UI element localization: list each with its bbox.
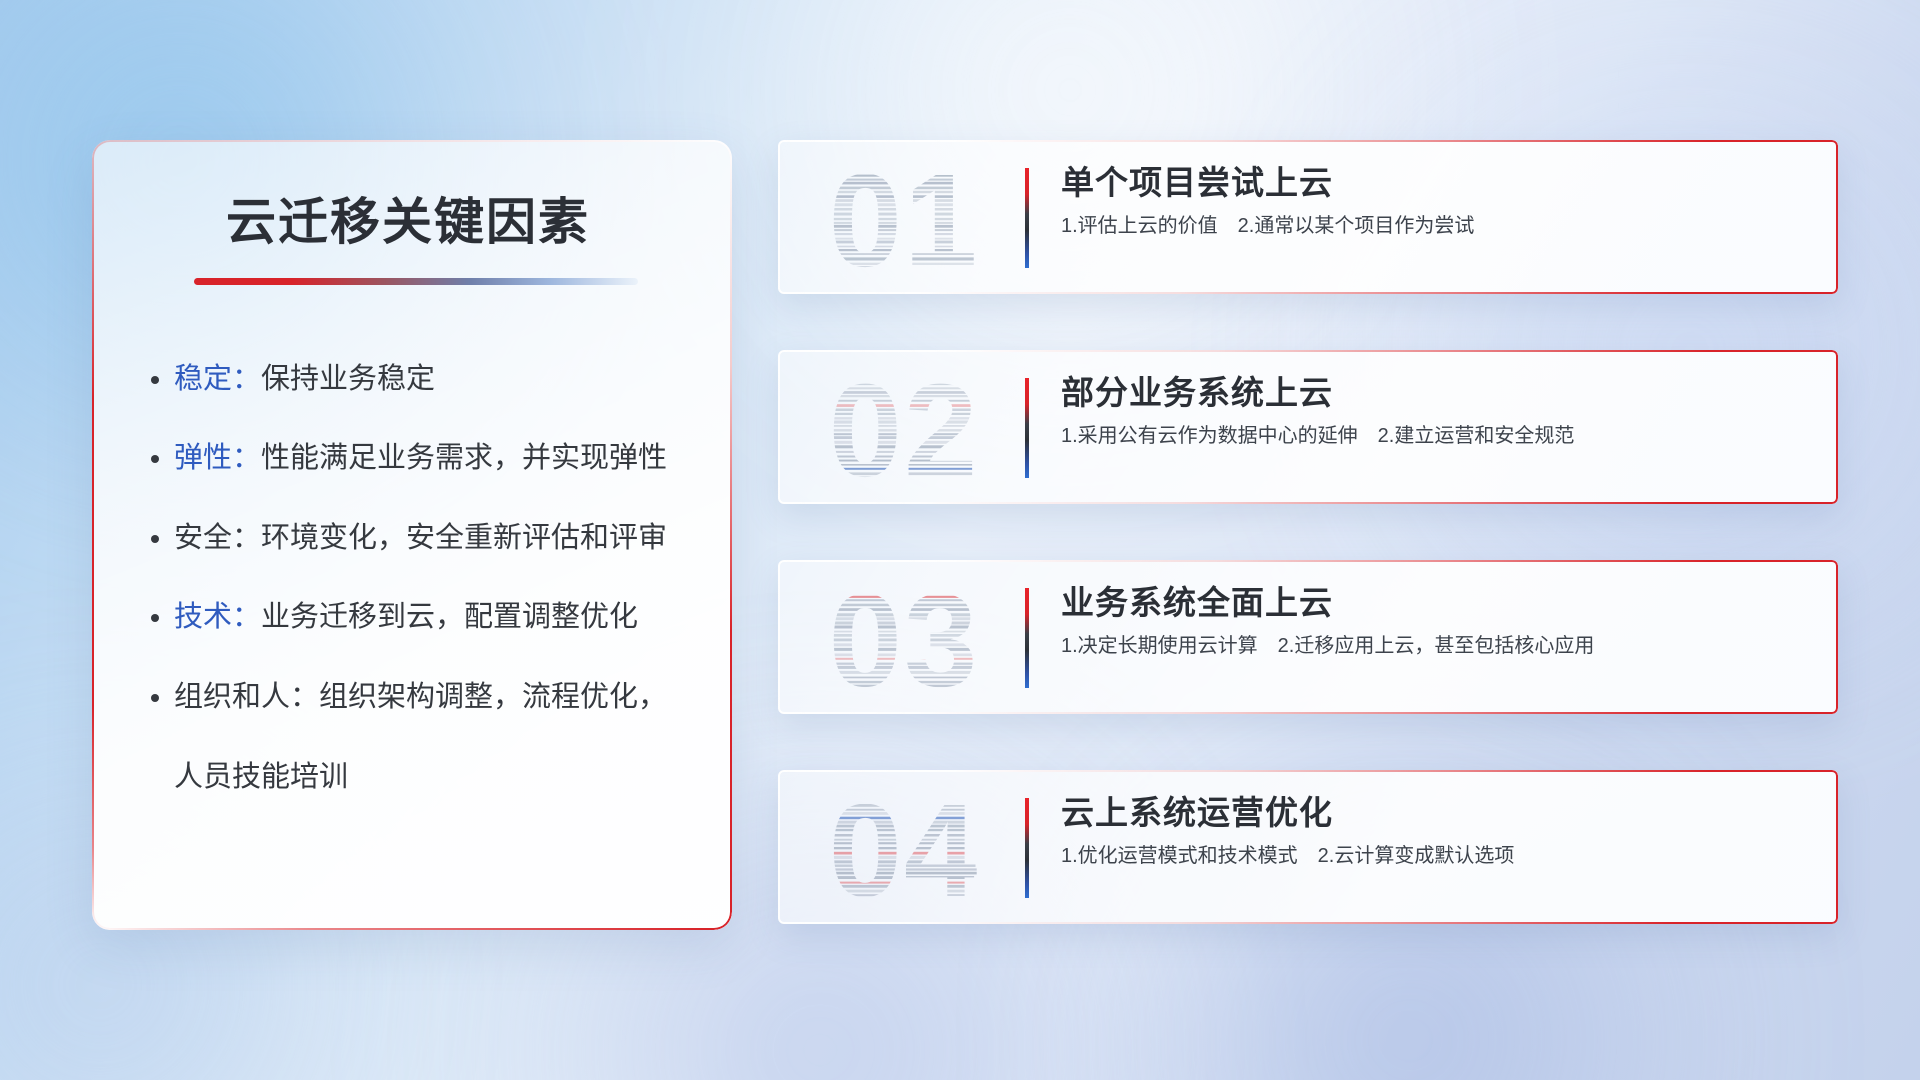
step-number-watermark: 01	[812, 156, 996, 278]
maturity-steps-list: 01单个项目尝试上云1.评估上云的价值 2.通常以某个项目作为尝试02部分业务系…	[778, 140, 1838, 924]
step-description: 1.采用公有云作为数据中心的延伸 2.建立运营和安全规范	[1061, 422, 1812, 450]
factor-value-line2: 人员技能培训	[174, 761, 686, 795]
step-number-watermark: 04	[812, 786, 996, 908]
step-title: 部分业务系统上云	[1061, 372, 1812, 413]
factor-value: 业务迁移到云，配置调整优化	[261, 601, 638, 633]
step-text-block: 部分业务系统上云1.采用公有云作为数据中心的延伸 2.建立运营和安全规范	[1061, 372, 1812, 450]
step-card[interactable]: 03业务系统全面上云1.决定长期使用云计算 2.迁移应用上云，甚至包括核心应用	[778, 560, 1838, 714]
factor-label: 安全：	[174, 522, 261, 554]
step-title: 云上系统运营优化	[1061, 792, 1812, 833]
step-text-block: 单个项目尝试上云1.评估上云的价值 2.通常以某个项目作为尝试	[1061, 162, 1812, 240]
step-title: 单个项目尝试上云	[1061, 162, 1812, 203]
factor-item: 稳定：保持业务稳定	[174, 363, 686, 397]
factor-label: 弹性：	[174, 442, 261, 474]
page-title: 云迁移关键因素	[146, 194, 686, 252]
step-card[interactable]: 01单个项目尝试上云1.评估上云的价值 2.通常以某个项目作为尝试	[778, 140, 1838, 294]
step-description: 1.优化运营模式和技术模式 2.云计算变成默认选项	[1061, 842, 1812, 870]
factor-item: 组织和人：组织架构调整，流程优化，人员技能培训	[174, 681, 686, 794]
title-underline-rule	[194, 278, 638, 285]
factor-label: 组织和人：	[174, 681, 319, 713]
step-card[interactable]: 04云上系统运营优化1.优化运营模式和技术模式 2.云计算变成默认选项	[778, 770, 1838, 924]
factor-label: 技术：	[174, 601, 261, 633]
factor-item: 弹性：性能满足业务需求，并实现弹性	[174, 442, 686, 476]
step-text-block: 业务系统全面上云1.决定长期使用云计算 2.迁移应用上云，甚至包括核心应用	[1061, 582, 1812, 660]
factor-list: 稳定：保持业务稳定弹性：性能满足业务需求，并实现弹性安全：环境变化，安全重新评估…	[146, 363, 686, 795]
step-accent-bar	[1025, 588, 1029, 688]
step-accent-bar	[1025, 378, 1029, 478]
factor-item: 技术：业务迁移到云，配置调整优化	[174, 601, 686, 635]
factor-value: 环境变化，安全重新评估和评审	[261, 522, 667, 554]
factor-value: 保持业务稳定	[261, 363, 435, 395]
factor-label: 稳定：	[174, 363, 261, 395]
step-accent-bar	[1025, 798, 1029, 898]
step-title: 业务系统全面上云	[1061, 582, 1812, 623]
factor-value: 组织架构调整，流程优化，	[319, 681, 667, 713]
step-text-block: 云上系统运营优化1.优化运营模式和技术模式 2.云计算变成默认选项	[1061, 792, 1812, 870]
step-description: 1.决定长期使用云计算 2.迁移应用上云，甚至包括核心应用	[1061, 632, 1812, 660]
step-number-watermark: 02	[812, 366, 996, 488]
step-description: 1.评估上云的价值 2.通常以某个项目作为尝试	[1061, 212, 1812, 240]
factor-item: 安全：环境变化，安全重新评估和评审	[174, 522, 686, 556]
step-number-watermark: 03	[812, 576, 996, 698]
step-accent-bar	[1025, 168, 1029, 268]
slide-canvas: 云迁移关键因素 稳定：保持业务稳定弹性：性能满足业务需求，并实现弹性安全：环境变…	[0, 0, 1920, 1080]
key-factors-card: 云迁移关键因素 稳定：保持业务稳定弹性：性能满足业务需求，并实现弹性安全：环境变…	[92, 140, 732, 930]
step-card[interactable]: 02部分业务系统上云1.采用公有云作为数据中心的延伸 2.建立运营和安全规范	[778, 350, 1838, 504]
factor-value: 性能满足业务需求，并实现弹性	[261, 442, 667, 474]
